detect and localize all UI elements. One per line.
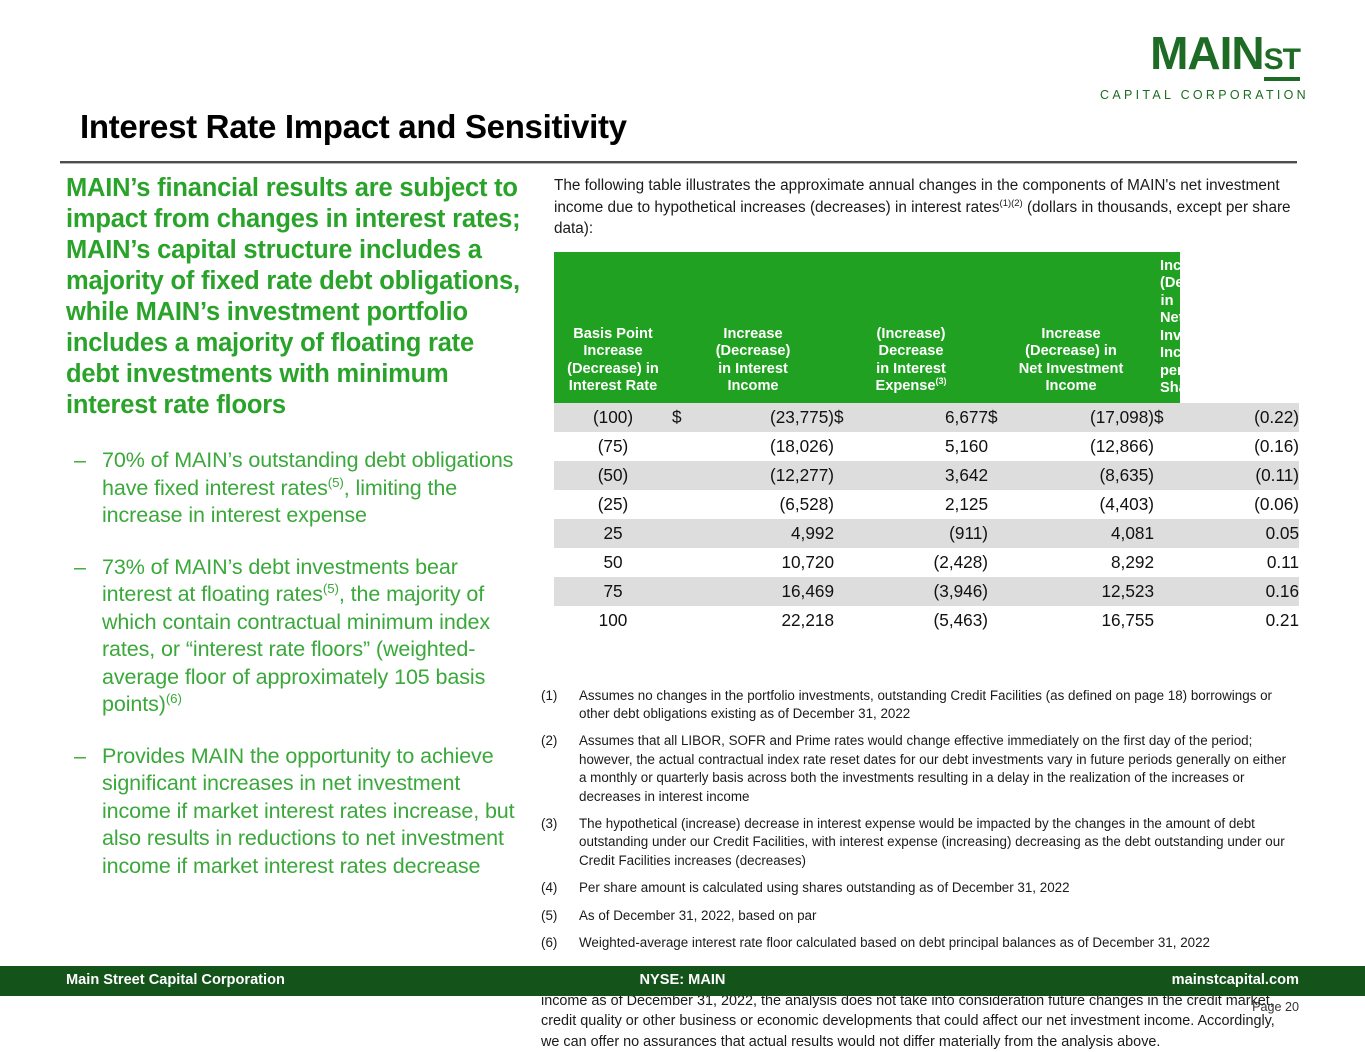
header-line: (Decrease) [716, 343, 791, 359]
table-row: (75) (18,026) 5,160 (12,866) (0.16) [554, 432, 1299, 461]
cell-interest-income: (18,026) [698, 432, 834, 461]
cell-nii-per-share: (0.06) [1180, 490, 1299, 519]
cell-currency [834, 606, 860, 635]
footnote-marker: (6) [541, 934, 557, 952]
header-line: Income per [1160, 345, 1211, 379]
footer-ticker: NYSE: MAIN [0, 972, 1365, 988]
footnote-item: (1) Assumes no changes in the portfolio … [541, 687, 1289, 724]
header-line: Basis Point [573, 326, 652, 342]
cell-basis-point: 25 [554, 519, 672, 548]
cell-currency [672, 461, 698, 490]
footnote-item: (2) Assumes that all LIBOR, SOFR and Pri… [541, 732, 1289, 806]
footnote-ref: (5) [328, 474, 344, 489]
footnote-ref: (6) [166, 691, 182, 706]
header-line: Increase [1041, 326, 1100, 342]
interest-rate-sensitivity-table: Basis Point Increase (Decrease) in Inter… [554, 252, 1299, 635]
table-header-row: Basis Point Increase (Decrease) in Inter… [554, 252, 1299, 403]
cell-currency: $ [672, 403, 698, 432]
logo-wordmark: MAINST [1100, 30, 1300, 81]
bullet-text-part1: Provides MAIN the opportunity to achieve… [102, 744, 515, 878]
page-title: Interest Rate Impact and Sensitivity [80, 108, 627, 146]
cell-interest-expense: (5,463) [860, 606, 988, 635]
cell-currency [1154, 606, 1180, 635]
cell-nii-per-share: 0.16 [1180, 577, 1299, 606]
table-row: (25) (6,528) 2,125 (4,403) (0.06) [554, 490, 1299, 519]
footnote-ref: (3) [936, 376, 947, 386]
cell-currency [672, 577, 698, 606]
cell-currency [834, 519, 860, 548]
footnote-text: As of December 31, 2022, based on par [579, 908, 816, 923]
header-line: Increase [583, 343, 642, 359]
company-logo: MAINST CAPITAL CORPORATION [1100, 30, 1300, 102]
footnote-marker: (2) [541, 732, 557, 750]
bullet-dash-icon: – [74, 743, 86, 771]
table-header: Basis Point Increase (Decrease) in Inter… [554, 252, 1299, 403]
left-content-column: MAIN’s financial results are subject to … [66, 173, 526, 904]
header-line: Income [727, 378, 778, 394]
table-intro-paragraph: The following table illustrates the appr… [554, 175, 1294, 240]
cell-currency [834, 432, 860, 461]
cell-net-investment-income: 8,292 [1014, 548, 1154, 577]
footnote-marker: (5) [541, 907, 557, 925]
table-row: (100) $ (23,775) $ 6,677 $ (17,098) $ (0… [554, 403, 1299, 432]
header-line: in Interest [876, 361, 946, 377]
cell-currency [1154, 548, 1180, 577]
header-line: Increase [723, 326, 782, 342]
cell-currency [988, 490, 1014, 519]
footnote-ref: (1)(2) [1000, 197, 1023, 208]
cell-currency [988, 519, 1014, 548]
header-line: (Decrease) in [1160, 275, 1235, 309]
cell-basis-point: (50) [554, 461, 672, 490]
cell-net-investment-income: (12,866) [1014, 432, 1154, 461]
footnote-text: The hypothetical (increase) decrease in … [579, 816, 1285, 868]
cell-currency: $ [834, 403, 860, 432]
header-line: (Decrease) in [1025, 343, 1117, 359]
footnote-text: Assumes no changes in the portfolio inve… [579, 688, 1272, 721]
header-line: Income [1045, 378, 1096, 394]
cell-interest-income: 4,992 [698, 519, 834, 548]
cell-interest-expense: (911) [860, 519, 988, 548]
cell-net-investment-income: (4,403) [1014, 490, 1154, 519]
cell-currency [988, 577, 1014, 606]
logo-wordmark-main: MAIN [1150, 27, 1264, 79]
cell-net-investment-income: (17,098) [1014, 403, 1154, 432]
footer-website[interactable]: mainstcapital.com [1172, 972, 1299, 988]
cell-currency [672, 490, 698, 519]
cell-nii-per-share: 0.21 [1180, 606, 1299, 635]
cell-currency [1154, 519, 1180, 548]
cell-currency [988, 606, 1014, 635]
cell-net-investment-income: 12,523 [1014, 577, 1154, 606]
cell-interest-expense: 2,125 [860, 490, 988, 519]
footnote-item: (3) The hypothetical (increase) decrease… [541, 815, 1289, 870]
list-item: –Provides MAIN the opportunity to achiev… [66, 743, 526, 881]
header-line: in Interest [718, 361, 788, 377]
header-line: Net Investment [1160, 310, 1237, 344]
cell-interest-income: 10,720 [698, 548, 834, 577]
cell-nii-per-share: 0.11 [1180, 548, 1299, 577]
cell-currency [672, 519, 698, 548]
cell-currency [834, 548, 860, 577]
cell-currency [834, 490, 860, 519]
cell-currency [988, 461, 1014, 490]
footnote-marker: (3) [541, 815, 557, 833]
cell-currency [1154, 432, 1180, 461]
cell-net-investment-income: (8,635) [1014, 461, 1154, 490]
footer-bar: Main Street Capital Corporation NYSE: MA… [0, 966, 1365, 996]
table-body: (100) $ (23,775) $ 6,677 $ (17,098) $ (0… [554, 403, 1299, 635]
list-item: –70% of MAIN’s outstanding debt obligati… [66, 447, 526, 530]
list-item: –73% of MAIN’s debt investments bear int… [66, 554, 526, 719]
cell-interest-expense: 5,160 [860, 432, 988, 461]
header-line: Expense [875, 378, 935, 394]
cell-currency [988, 548, 1014, 577]
cell-nii-per-share: (0.16) [1180, 432, 1299, 461]
cell-currency [672, 606, 698, 635]
footnotes-list: (1) Assumes no changes in the portfolio … [541, 687, 1289, 953]
cell-basis-point: (75) [554, 432, 672, 461]
footnote-item: (6) Weighted-average interest rate floor… [541, 934, 1289, 952]
cell-nii-per-share: (0.22) [1180, 403, 1299, 432]
header-line: (Increase) [877, 326, 946, 342]
col-header-net-investment-income: Increase (Decrease) in Net Investment In… [988, 252, 1154, 403]
cell-interest-income: 22,218 [698, 606, 834, 635]
table-row: 100 22,218 (5,463) 16,755 0.21 [554, 606, 1299, 635]
lead-statement: MAIN’s financial results are subject to … [66, 173, 526, 421]
logo-subtitle: CAPITAL CORPORATION [1100, 88, 1300, 102]
table-row: (50) (12,277) 3,642 (8,635) (0.11) [554, 461, 1299, 490]
page-number: Page 20 [1252, 1000, 1299, 1014]
cell-interest-expense: 3,642 [860, 461, 988, 490]
bullet-dash-icon: – [74, 447, 86, 475]
col-header-interest-income: Increase (Decrease) in Interest Income [672, 252, 834, 403]
table-row: 75 16,469 (3,946) 12,523 0.16 [554, 577, 1299, 606]
cell-interest-expense: 6,677 [860, 403, 988, 432]
cell-nii-per-share: 0.05 [1180, 519, 1299, 548]
cell-basis-point: (25) [554, 490, 672, 519]
footnote-item: (4) Per share amount is calculated using… [541, 879, 1289, 897]
cell-net-investment-income: 4,081 [1014, 519, 1154, 548]
cell-currency [1154, 577, 1180, 606]
right-content-column: The following table illustrates the appr… [541, 175, 1301, 1052]
cell-interest-expense: (2,428) [860, 548, 988, 577]
footnote-marker: (4) [541, 879, 557, 897]
cell-nii-per-share: (0.11) [1180, 461, 1299, 490]
footnote-ref: (5) [323, 581, 339, 596]
cell-interest-expense: (3,946) [860, 577, 988, 606]
footnote-ref: (4) [1201, 378, 1212, 388]
col-header-basis-point: Basis Point Increase (Decrease) in Inter… [554, 252, 672, 403]
cell-interest-income: (12,277) [698, 461, 834, 490]
cell-currency [1154, 461, 1180, 490]
cell-interest-income: (6,528) [698, 490, 834, 519]
header-line: Increase [1160, 258, 1219, 274]
footnote-text: Assumes that all LIBOR, SOFR and Prime r… [579, 733, 1286, 803]
cell-currency [988, 432, 1014, 461]
cell-currency [1154, 490, 1180, 519]
cell-net-investment-income: 16,755 [1014, 606, 1154, 635]
footnote-text: Weighted-average interest rate floor cal… [579, 935, 1210, 950]
cell-currency [834, 577, 860, 606]
cell-interest-income: (23,775) [698, 403, 834, 432]
col-header-nii-per-share: Increase (Decrease) in Net Investment In… [1154, 252, 1180, 403]
header-line: Decrease [879, 343, 944, 359]
cell-currency: $ [1154, 403, 1180, 432]
header-line: (Decrease) in [567, 361, 659, 377]
cell-currency: $ [988, 403, 1014, 432]
col-header-interest-expense: (Increase) Decrease in Interest Expense(… [834, 252, 988, 403]
cell-interest-income: 16,469 [698, 577, 834, 606]
cell-basis-point: (100) [554, 403, 672, 432]
header-line: Share [1160, 380, 1201, 396]
cell-currency [672, 432, 698, 461]
cell-basis-point: 75 [554, 577, 672, 606]
highlights-list: –70% of MAIN’s outstanding debt obligati… [66, 447, 526, 880]
header-line: Interest Rate [569, 378, 657, 394]
header-line: Net Investment [1019, 361, 1124, 377]
table-row: 50 10,720 (2,428) 8,292 0.11 [554, 548, 1299, 577]
title-divider [60, 161, 1297, 164]
cell-currency [672, 548, 698, 577]
cell-currency [834, 461, 860, 490]
footnote-item: (5) As of December 31, 2022, based on pa… [541, 907, 1289, 925]
table-row: 25 4,992 (911) 4,081 0.05 [554, 519, 1299, 548]
cell-basis-point: 100 [554, 606, 672, 635]
cell-basis-point: 50 [554, 548, 672, 577]
bullet-dash-icon: – [74, 554, 86, 582]
footnote-text: Per share amount is calculated using sha… [579, 880, 1070, 895]
logo-wordmark-st: ST [1264, 45, 1300, 81]
footnote-marker: (1) [541, 687, 557, 705]
